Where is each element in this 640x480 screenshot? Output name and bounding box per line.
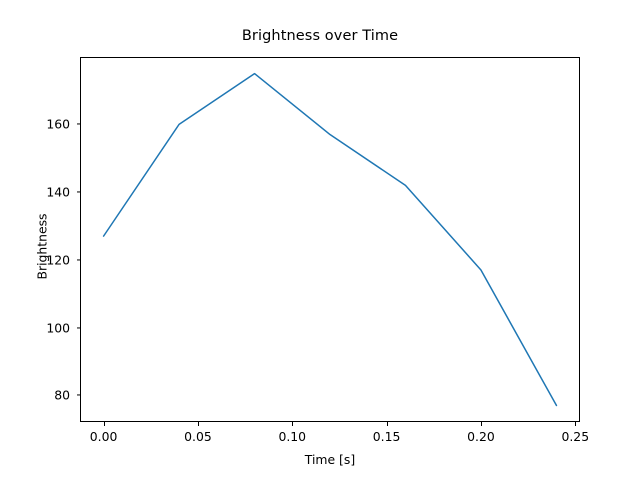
x-tick-label: 0.00: [74, 429, 134, 444]
x-axis-tick-labels: 0.000.050.100.150.200.25: [0, 0, 640, 480]
figure-canvas: Brightness over Time 80100120140160 0.00…: [0, 0, 640, 480]
x-axis-label: Time [s]: [80, 452, 580, 467]
x-tick-label: 0.05: [168, 429, 228, 444]
x-tick-label: 0.25: [545, 429, 605, 444]
x-tick-label: 0.20: [451, 429, 511, 444]
x-tick-label: 0.10: [262, 429, 322, 444]
x-tick-label: 0.15: [357, 429, 417, 444]
y-axis-label: Brightness: [35, 187, 50, 307]
